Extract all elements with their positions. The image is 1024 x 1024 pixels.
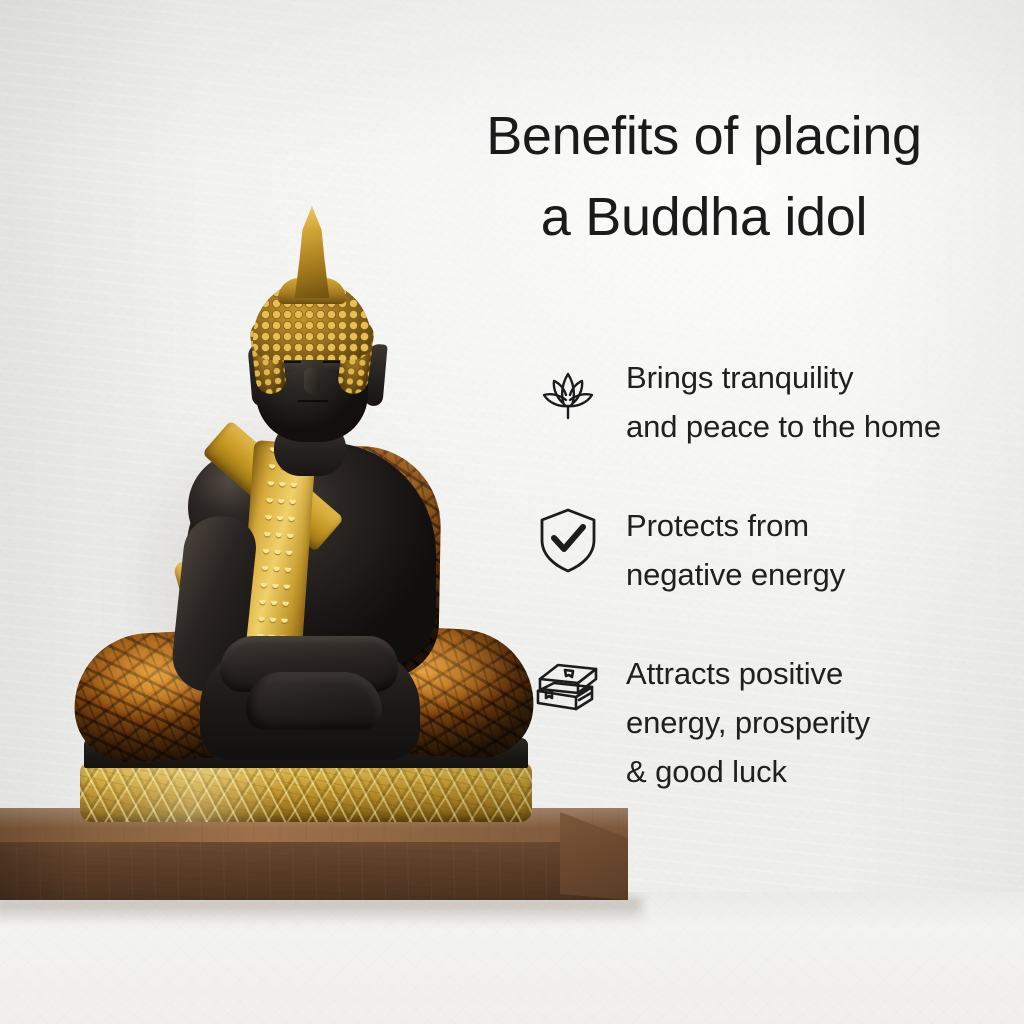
benefit-line: Protects from — [626, 502, 845, 551]
benefit-item-prosperity: Attracts positive energy, prosperity & g… — [532, 648, 1002, 797]
page-title: Benefits of placing a Buddha idol — [404, 96, 1004, 258]
benefit-line: negative energy — [626, 551, 845, 600]
benefit-line: & good luck — [626, 748, 870, 797]
benefit-item-tranquility: Brings tranquility and peace to the home — [532, 352, 1002, 452]
benefit-text-protection: Protects from negative energy — [626, 500, 845, 600]
shelf-front-face — [0, 842, 628, 900]
statue-crossed-feet — [246, 672, 382, 730]
buddha-statue — [70, 196, 540, 828]
benefit-line: energy, prosperity — [626, 699, 870, 748]
promo-graphic: Benefits of placing a Buddha idol Brings… — [0, 0, 1024, 1024]
benefit-item-protection: Protects from negative energy — [532, 500, 1002, 600]
statue-gold-base — [80, 762, 532, 822]
benefits-list: Brings tranquility and peace to the home… — [532, 352, 1002, 845]
benefit-text-tranquility: Brings tranquility and peace to the home — [626, 352, 941, 452]
shelf-drop-shadow — [0, 898, 642, 924]
benefit-text-prosperity: Attracts positive energy, prosperity & g… — [626, 648, 870, 797]
books-stack-icon — [532, 652, 604, 724]
title-line-1: Benefits of placing — [486, 106, 922, 166]
benefit-line: and peace to the home — [626, 403, 941, 452]
benefit-line: Attracts positive — [626, 650, 870, 699]
shield-check-icon — [532, 504, 604, 576]
statue-nose — [304, 368, 320, 394]
title-line-2: a Buddha idol — [541, 187, 867, 247]
benefit-line: Brings tranquility — [626, 354, 941, 403]
lotus-icon — [532, 356, 604, 428]
